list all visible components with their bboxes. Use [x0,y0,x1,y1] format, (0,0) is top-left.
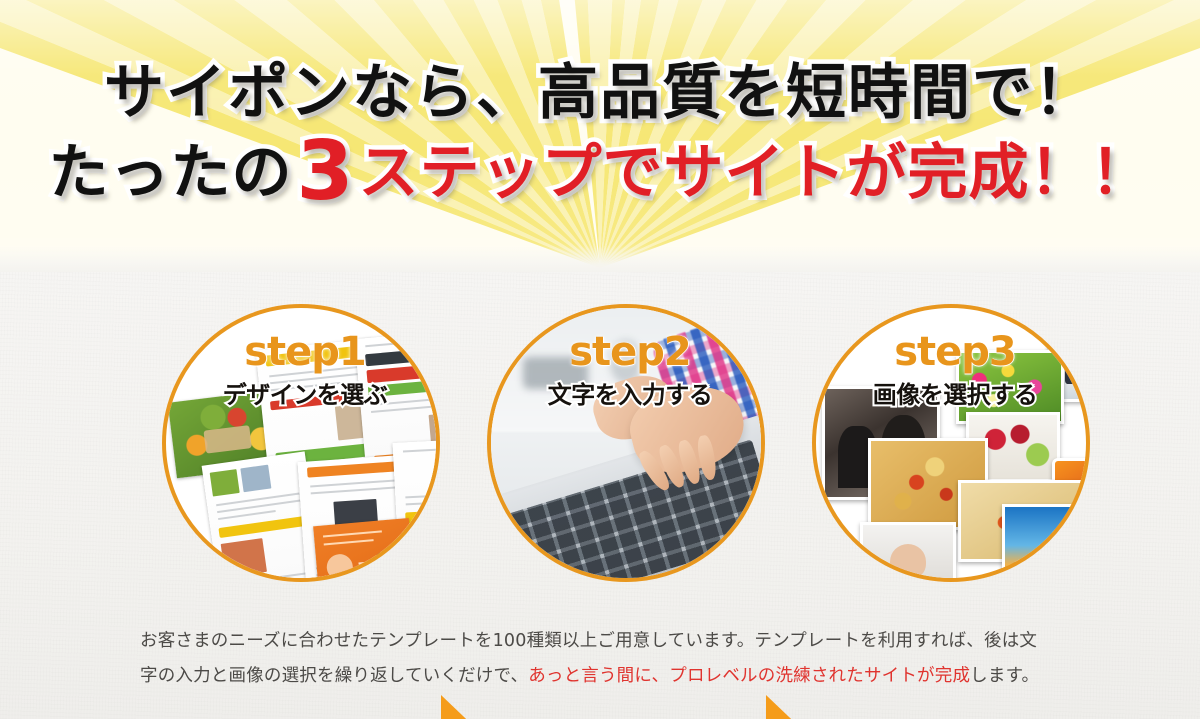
headline-line-2: たったの3ステップでサイトが完成！！ [0,124,1200,211]
step1-labels: step1 デザインを選ぶ [166,332,440,410]
headline-line-1: サイポンなら、高品質を短時間で！ [0,44,1200,131]
description-highlight: あっと言う間に、プロレベルの洗練されたサイトが完成 [528,666,970,686]
steps-section: step1 デザインを選ぶ [0,272,1200,719]
description-line2-suffix: します。 [970,666,1039,686]
step3-caption: 画像を選択する [816,375,1090,410]
step-circle-3[interactable]: step3 画像を選択する [812,304,1090,582]
hero-bottom-fade [0,246,1200,272]
description-line2-prefix: 字の入力と画像の選択を繰り返していくだけで、 [140,666,528,686]
steps-row: step1 デザインを選ぶ [0,272,1200,612]
headline-line2-prefix: たったの [48,138,292,208]
step3-labels: step3 画像を選択する [816,332,1090,410]
flyer-orange-card [313,518,415,582]
step2-number: step2 [491,332,765,372]
keyboard-keys [487,440,765,582]
hero-section: サイポンなら、高品質を短時間で！ たったの3ステップでサイトが完成！！ [0,0,1200,272]
photo-baby [860,522,956,582]
step-circle-1[interactable]: step1 デザインを選ぶ [162,304,440,582]
arrow-step2-to-step3-icon [766,695,810,719]
step3-number: step3 [816,332,1090,372]
step-circle-2[interactable]: step2 文字を入力する [487,304,765,582]
headline-step-count: 3 [292,124,358,219]
step2-caption: 文字を入力する [491,375,765,410]
arrow-step1-to-step2-icon [441,695,485,719]
step1-caption: デザインを選ぶ [166,375,440,410]
banner-stage: サイポンなら、高品質を短時間で！ たったの3ステップでサイトが完成！！ [0,0,1200,719]
step2-labels: step2 文字を入力する [491,332,765,410]
step1-number: step1 [166,332,440,372]
headline-line2-suffix: ステップでサイトが完成！！ [359,138,1152,208]
description-text: お客さまのニーズに合わせたテンプレートを100種類以上ご用意しています。テンプレ… [140,624,1100,694]
photo-sky [1002,504,1090,582]
description-line-2: 字の入力と画像の選択を繰り返していくだけで、あっと言う間に、プロレベルの洗練され… [140,659,1100,694]
headline-block: サイポンなら、高品質を短時間で！ たったの3ステップでサイトが完成！！ [0,0,1200,272]
description-line-1: お客さまのニーズに合わせたテンプレートを100種類以上ご用意しています。テンプレ… [140,624,1100,659]
